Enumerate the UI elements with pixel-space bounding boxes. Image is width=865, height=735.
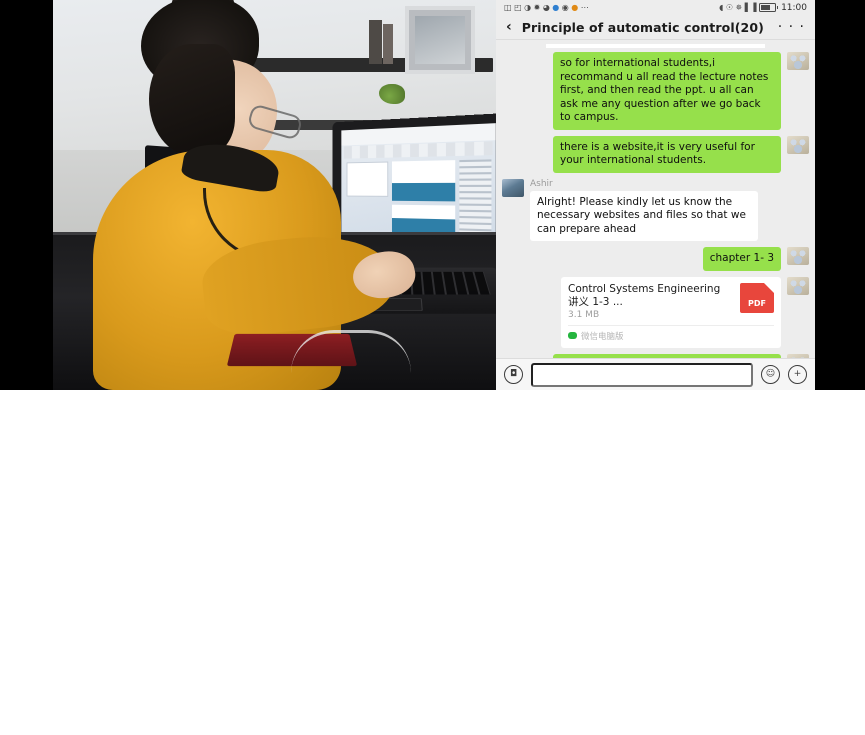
more-icon: ⋯ [581, 4, 589, 12]
sim-card-icon: ◫ [504, 4, 511, 12]
wechat-screenshot: ◫ ◰ ◑ ✹ ◕ ● ◉ ● ⋯ ◖ ☉ ✵ ▌▐ 11:00 [496, 0, 815, 390]
message-row-file: Control Systems Engineering 讲义 1-3 ... 3… [502, 277, 809, 348]
chat-text-input[interactable] [531, 363, 753, 387]
partial-message-top [546, 44, 765, 48]
avatar[interactable] [502, 179, 524, 197]
chat-input-bar: ◘ ☺ + [496, 358, 815, 390]
photo-book-2 [383, 24, 393, 64]
classroom-photo [53, 0, 496, 390]
phone-status-bar: ◫ ◰ ◑ ✹ ◕ ● ◉ ● ⋯ ◖ ☉ ✵ ▌▐ 11:00 [496, 0, 815, 15]
message-bubble-outgoing[interactable]: there is a website,it is very useful for… [553, 136, 781, 173]
avatar[interactable] [787, 136, 809, 154]
sync-icon: ● [571, 4, 577, 12]
file-attachment-card[interactable]: Control Systems Engineering 讲义 1-3 ... 3… [561, 277, 781, 348]
message-bubble-outgoing[interactable]: chapter 1- 3 [703, 247, 781, 271]
message-bubble-outgoing[interactable]: so for international students,i recomman… [553, 52, 781, 130]
photo-frame-inner [415, 16, 465, 64]
message-sender-name: Ashir [530, 179, 553, 189]
signal-bars-icon: ◰ [514, 4, 521, 12]
photo-hair-side [149, 44, 235, 156]
location-icon: ◉ [562, 4, 568, 12]
do-not-disturb-icon: ☉ [726, 4, 733, 12]
message-row: chapter 1- 3 [502, 247, 809, 271]
voice-input-icon[interactable]: ◘ [504, 365, 523, 384]
file-name: Control Systems Engineering 讲义 1-3 ... [568, 283, 734, 309]
message-row: Ashir Alright! Please kindly let us know… [502, 179, 809, 242]
chat-title: Principle of automatic control(20) [522, 20, 768, 35]
plus-icon[interactable]: + [788, 365, 807, 384]
chat-header: ‹ Principle of automatic control(20) · ·… [496, 15, 815, 40]
file-card-top: Control Systems Engineering 讲义 1-3 ... 3… [568, 283, 774, 320]
page-root: ◫ ◰ ◑ ✹ ◕ ● ◉ ● ⋯ ◖ ☉ ✵ ▌▐ 11:00 [0, 0, 865, 735]
status-left-icons: ◫ ◰ ◑ ✹ ◕ ● ◉ ● ⋯ [504, 4, 719, 12]
message-row: there is a website,it is very useful for… [502, 136, 809, 173]
message-bubble-incoming[interactable]: Alright! Please kindly let us know the n… [530, 191, 758, 242]
media-band: ◫ ◰ ◑ ✹ ◕ ● ◉ ● ⋯ ◖ ☉ ✵ ▌▐ 11:00 [0, 0, 865, 390]
incoming-message-group: Ashir Alright! Please kindly let us know… [524, 179, 758, 242]
eye-icon: ◖ [719, 4, 723, 12]
photo-picture-frame [405, 6, 475, 74]
wechat-icon [568, 332, 577, 339]
pdf-file-icon: PDF [740, 283, 774, 313]
message-row: so for international students,i recomman… [502, 52, 809, 130]
file-source-row: 微信电脑版 [568, 325, 774, 342]
bluetooth-dot-icon: ● [552, 4, 558, 12]
back-icon[interactable]: ‹ [506, 20, 512, 34]
photo-plant [379, 84, 405, 104]
more-options-icon[interactable]: · · · [778, 20, 805, 34]
file-meta: Control Systems Engineering 讲义 1-3 ... 3… [568, 283, 734, 320]
alarm-icon: ◕ [543, 4, 549, 12]
emoji-icon[interactable]: ☺ [761, 365, 780, 384]
photo-laptop-screen [341, 123, 495, 248]
vibrate-icon: ▌▐ [745, 4, 756, 12]
chat-message-list[interactable]: so for international students,i recomman… [496, 40, 815, 359]
status-clock: 11:00 [781, 3, 807, 13]
battery-icon [759, 3, 776, 12]
file-source-label: 微信电脑版 [581, 330, 624, 342]
avatar[interactable] [787, 277, 809, 295]
nfc-icon: ✹ [534, 4, 540, 12]
file-size: 3.1 MB [568, 310, 734, 320]
photo-screen-textblock [459, 159, 491, 235]
bluetooth-icon: ✵ [736, 4, 742, 12]
wifi-icon: ◑ [524, 4, 530, 12]
avatar[interactable] [787, 52, 809, 70]
photo-book [369, 20, 382, 64]
avatar[interactable] [787, 247, 809, 265]
status-right-icons: ◖ ☉ ✵ ▌▐ 11:00 [719, 3, 807, 13]
photo-screen-chart-1 [392, 160, 455, 201]
